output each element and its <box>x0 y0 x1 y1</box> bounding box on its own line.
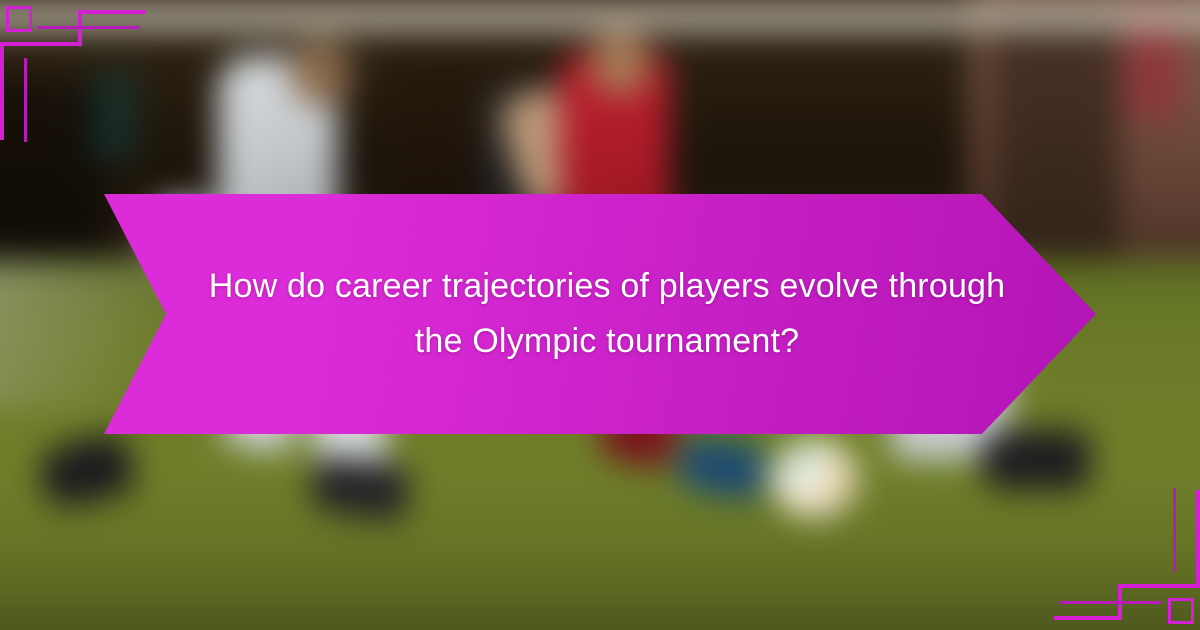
soccer-ball-panel-orange <box>818 470 844 494</box>
background-brick-shadow <box>990 0 1120 260</box>
share-card: How do career trajectories of players ev… <box>0 0 1200 630</box>
player-white-head <box>290 38 352 106</box>
soccer-ball-icon <box>772 440 858 518</box>
headline-text: How do career trajectories of players ev… <box>193 259 1007 369</box>
background-grass-shadow <box>0 550 1200 630</box>
background-railing-lower <box>0 18 1200 34</box>
headline-banner: How do career trajectories of players ev… <box>104 194 1096 434</box>
background-teal-panel <box>92 72 136 162</box>
player-red-head <box>590 32 650 96</box>
player-right-shoe <box>980 430 1090 490</box>
soccer-ball-panel-teal <box>788 452 818 478</box>
